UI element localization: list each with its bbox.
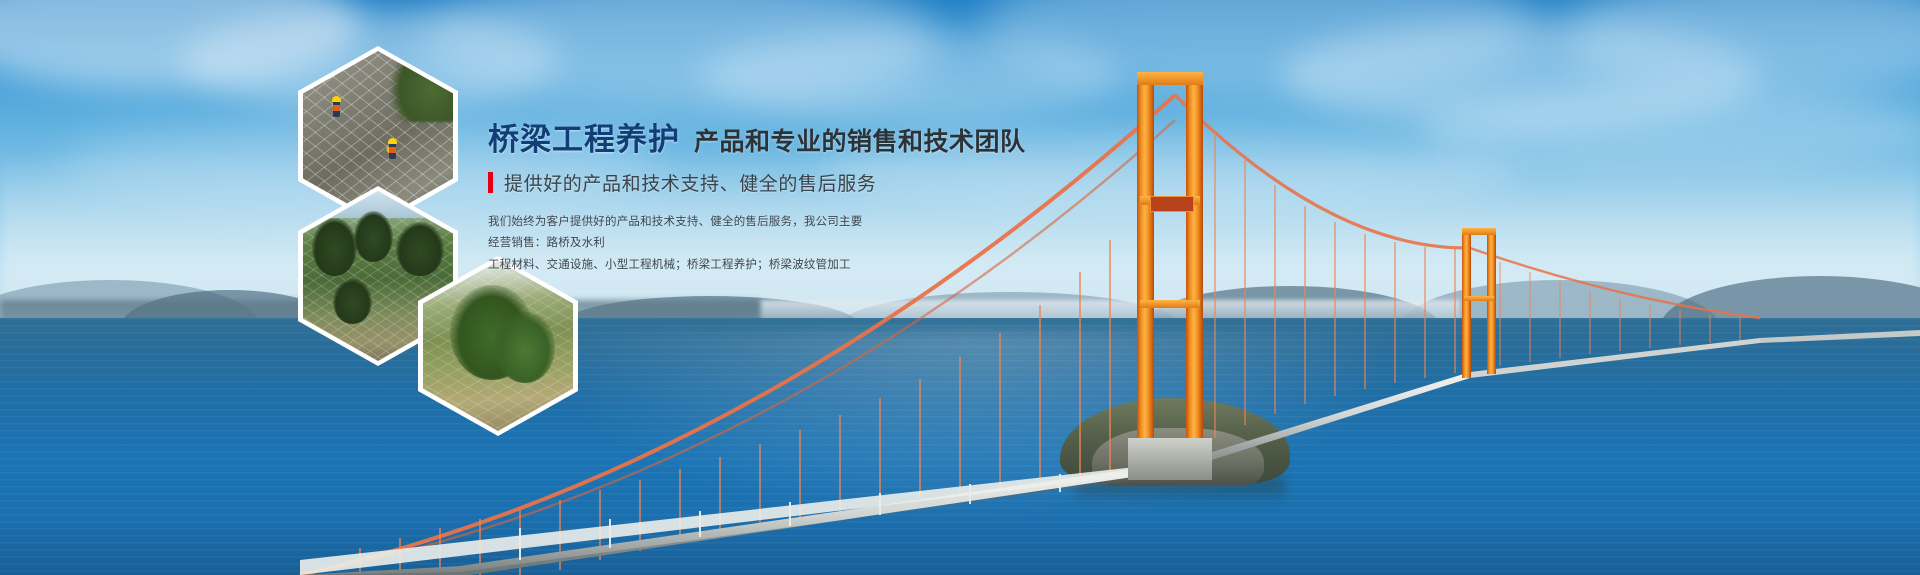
photo-tree-4 (333, 279, 372, 323)
accent-bar-icon (488, 172, 493, 193)
worker-figure-1 (333, 101, 340, 117)
subtitle: 提供好的产品和技术支持、健全的售后服务 (504, 169, 876, 196)
photo-shrub-second (495, 312, 555, 383)
body-line-1: 我们始终为客户提供好的产品和技术支持、健全的售后服务，我公司主要经营销售：路桥及… (488, 212, 868, 255)
subtitle-row: 提供好的产品和技术支持、健全的售后服务 (488, 169, 1008, 196)
headline-sub: 产品和专业的销售和技术团队 (694, 130, 1026, 155)
helmet-icon (332, 96, 341, 102)
safety-vest (333, 105, 340, 111)
hex-photo-cluster (0, 0, 1920, 575)
photo-tree-3 (396, 222, 444, 276)
headline: 桥梁工程养护 产品和专业的销售和技术团队 (488, 124, 1008, 155)
photo-tree-1 (312, 218, 357, 276)
headline-strong: 桥梁工程养护 (488, 124, 680, 155)
hero-banner: 桥梁工程养护 产品和专业的销售和技术团队 提供好的产品和技术支持、健全的售后服务… (0, 0, 1920, 575)
safety-vest (389, 147, 396, 153)
helmet-icon (388, 138, 397, 144)
photo-tree-2 (354, 211, 393, 262)
banner-copy: 桥梁工程养护 产品和专业的销售和技术团队 提供好的产品和技术支持、健全的售后服务… (488, 124, 1008, 276)
body-copy: 我们始终为客户提供好的产品和技术支持、健全的售后服务，我公司主要经营销售：路桥及… (488, 212, 868, 276)
body-line-2: 工程材料、交通设施、小型工程机械；桥梁工程养护；桥梁波纹管加工 (488, 255, 868, 276)
worker-figure-2 (389, 143, 396, 159)
